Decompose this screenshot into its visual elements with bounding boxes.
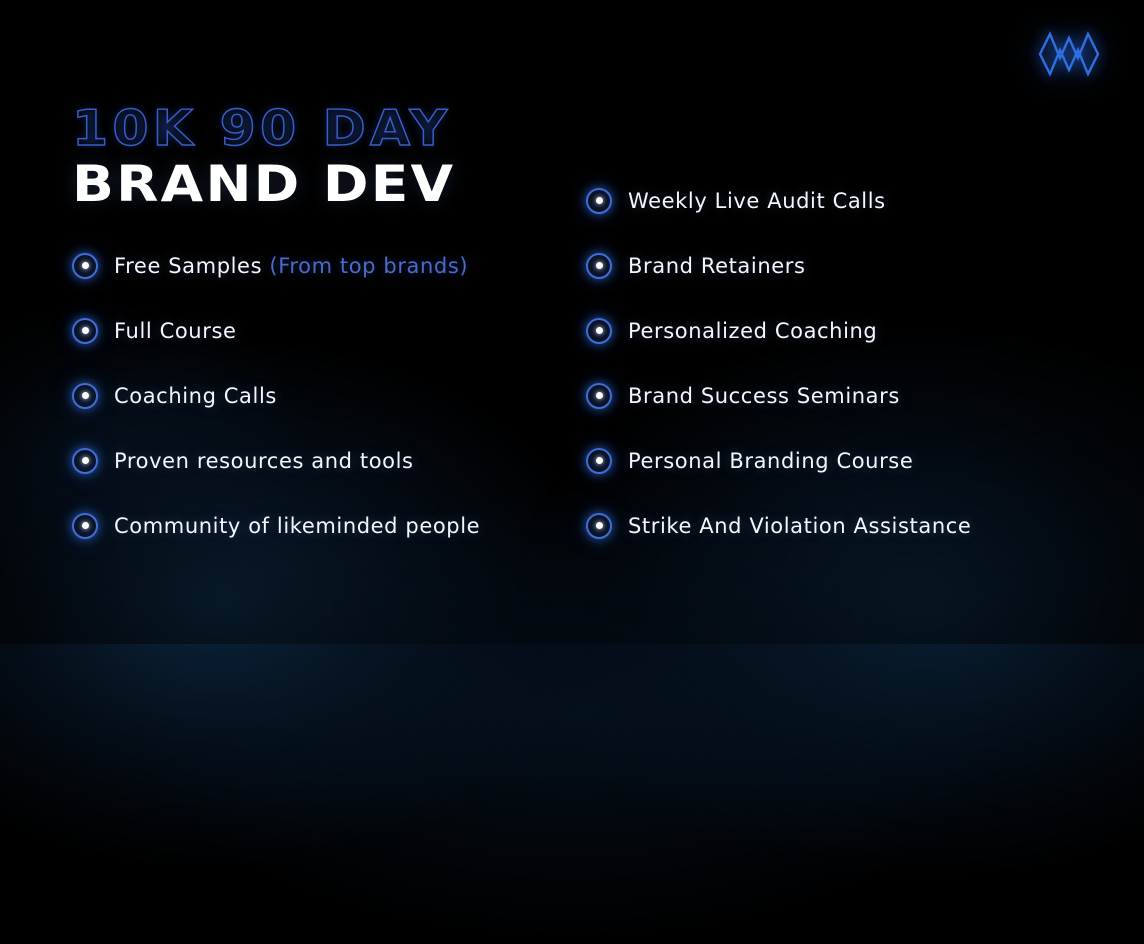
list-item[interactable]: Personalized Coaching <box>586 298 1106 363</box>
list-item[interactable]: Free Samples (From top brands) <box>72 233 592 298</box>
list-item-label: Full Course <box>114 319 237 343</box>
list-item[interactable]: Community of likeminded people <box>72 493 592 558</box>
bullet-icon <box>586 253 612 279</box>
list-item-label: Personal Branding Course <box>628 449 913 473</box>
bullet-icon <box>586 513 612 539</box>
list-item[interactable]: Brand Retainers <box>586 233 1106 298</box>
benefits-list-right: Weekly Live Audit Calls Brand Retainers … <box>586 168 1106 558</box>
bullet-icon <box>72 318 98 344</box>
list-item-label: Community of likeminded people <box>114 514 480 538</box>
list-item-note: (From top brands) <box>269 254 468 278</box>
list-item[interactable]: Weekly Live Audit Calls <box>586 168 1106 233</box>
benefits-list-left: Free Samples (From top brands) Full Cour… <box>72 168 592 558</box>
bullet-icon <box>72 383 98 409</box>
bullet-icon <box>586 188 612 214</box>
bullet-icon <box>586 383 612 409</box>
zigzag-m-logo-icon <box>1036 28 1102 80</box>
list-item[interactable]: Coaching Calls <box>72 363 592 428</box>
list-item[interactable]: Full Course <box>72 298 592 363</box>
list-item-label: Strike And Violation Assistance <box>628 514 971 538</box>
list-item[interactable]: Proven resources and tools <box>72 428 592 493</box>
list-item-label: Coaching Calls <box>114 384 277 408</box>
bullet-icon <box>586 448 612 474</box>
list-item[interactable]: Brand Success Seminars <box>586 363 1106 428</box>
bullet-icon <box>72 513 98 539</box>
bullet-icon <box>72 253 98 279</box>
brand-logo <box>1036 28 1102 80</box>
list-item-label: Personalized Coaching <box>628 319 877 343</box>
title-line-outline: 10K 90 DAY <box>72 104 451 154</box>
bullet-icon <box>586 318 612 344</box>
list-item[interactable]: Strike And Violation Assistance <box>586 493 1106 558</box>
bullet-icon <box>72 448 98 474</box>
list-item-label: Weekly Live Audit Calls <box>628 189 886 213</box>
list-item[interactable]: Personal Branding Course <box>586 428 1106 493</box>
list-item-label: Free Samples (From top brands) <box>114 254 468 278</box>
list-item-label: Proven resources and tools <box>114 449 414 473</box>
list-item-label: Brand Retainers <box>628 254 806 278</box>
list-item-label: Brand Success Seminars <box>628 384 900 408</box>
